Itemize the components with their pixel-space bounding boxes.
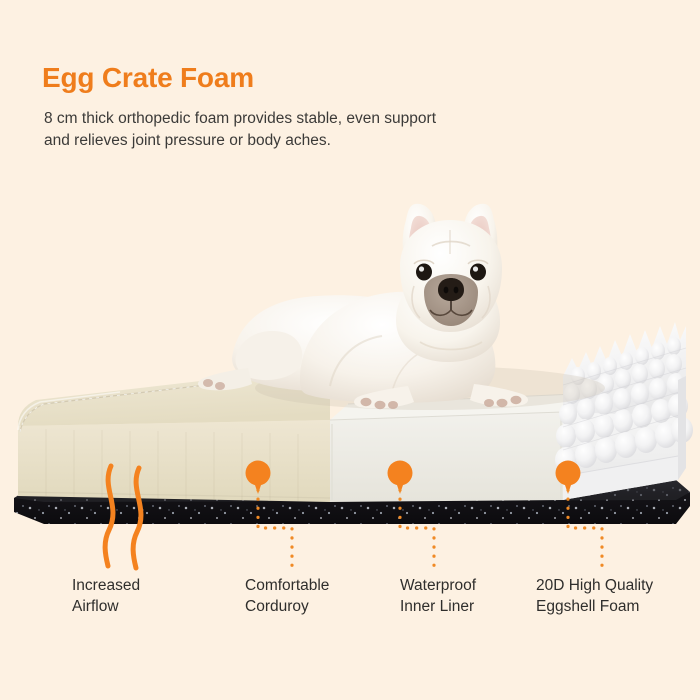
label-line-2: Corduroy xyxy=(245,596,329,617)
label-line-1: Increased xyxy=(72,577,140,594)
callout-label-eggshell-foam: 20D High Quality Eggshell Foam xyxy=(536,575,653,617)
product-infographic: Egg Crate Foam 8 cm thick orthopedic foa… xyxy=(0,0,700,700)
french-bulldog xyxy=(198,204,605,410)
label-line-2: Eggshell Foam xyxy=(536,596,653,617)
label-line-1: Waterproof xyxy=(400,577,476,594)
description-line-1: 8 cm thick orthopedic foam provides stab… xyxy=(44,110,436,127)
callout-label-waterproof-inner-liner: Waterproof Inner Liner xyxy=(400,575,476,617)
connector-inner-liner xyxy=(394,490,454,570)
label-line-2: Airflow xyxy=(72,596,140,617)
connector-corduroy xyxy=(252,490,312,570)
label-line-1: 20D High Quality xyxy=(536,577,653,594)
increased-airflow-icon xyxy=(95,462,155,572)
description-line-2: and relieves joint pressure or body ache… xyxy=(44,130,604,152)
page-description: 8 cm thick orthopedic foam provides stab… xyxy=(44,108,604,152)
label-line-1: Comfortable xyxy=(245,577,329,594)
connector-eggshell-foam xyxy=(562,490,622,570)
page-title: Egg Crate Foam xyxy=(42,62,254,94)
label-line-2: Inner Liner xyxy=(400,596,476,617)
callout-label-increased-airflow: Increased Airflow xyxy=(72,575,140,617)
callout-label-comfortable-corduroy: Comfortable Corduroy xyxy=(245,575,329,617)
